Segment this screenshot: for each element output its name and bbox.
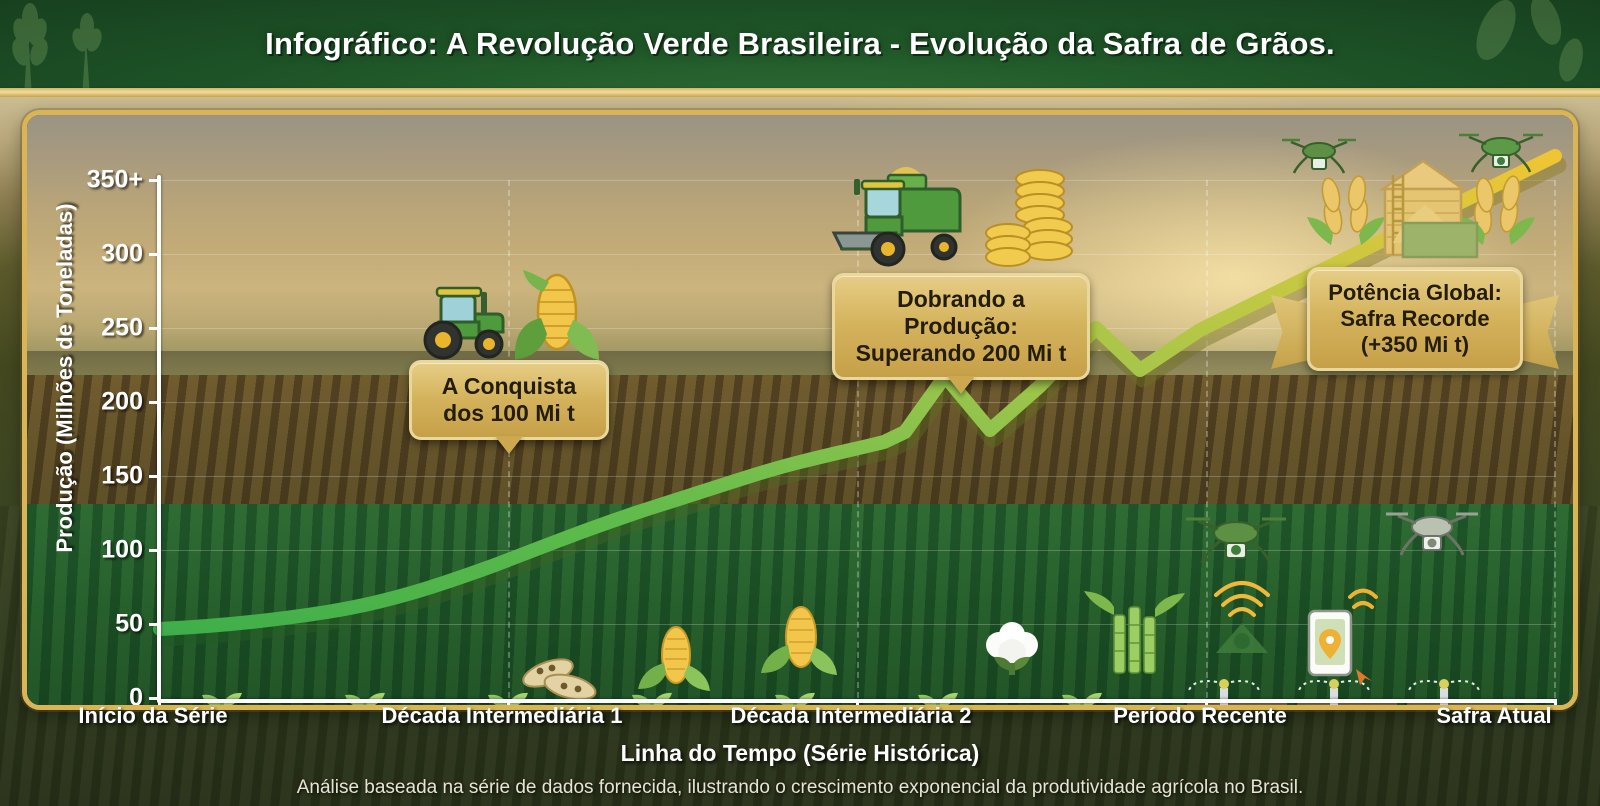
y-tick-300 bbox=[149, 253, 161, 256]
y-tick-200 bbox=[149, 401, 161, 404]
infographic-root: Infográfico: A Revolução Verde Brasileir… bbox=[0, 0, 1600, 806]
callout-350-bubble: Potência Global: Safra Recorde (+350 Mi … bbox=[1307, 267, 1523, 371]
y-tick-50 bbox=[149, 623, 161, 626]
callout-100-line2: dos 100 Mi t bbox=[430, 400, 588, 427]
y-axis-label-250: 250 bbox=[101, 314, 143, 343]
footnote-text: Análise baseada na série de dados fornec… bbox=[0, 777, 1600, 799]
combine-harvester-icon bbox=[832, 161, 982, 279]
callout-100-line1: A Conquista bbox=[430, 373, 588, 400]
x-axis-label-2: Década Intermediária 2 bbox=[731, 703, 972, 729]
callout-350-line1: Potência Global: bbox=[1328, 280, 1502, 306]
x-axis-label-3: Período Recente bbox=[1113, 703, 1287, 729]
callout-350[interactable]: Potência Global: Safra Recorde (+350 Mi … bbox=[1307, 267, 1523, 371]
y-axis-label-350: 350+ bbox=[87, 166, 143, 195]
callout-200-bubble: Dobrando a Produção: Superando 200 Mi t bbox=[832, 273, 1090, 380]
x-axis-label-1: Década Intermediária 1 bbox=[382, 703, 623, 729]
coin-stack-icon bbox=[982, 161, 1078, 279]
callout-200-line2: Superando 200 Mi t bbox=[853, 340, 1069, 367]
callout-350-line2: Safra Recorde bbox=[1328, 306, 1502, 332]
callout-100-bubble: A Conquista dos 100 Mi t bbox=[409, 360, 609, 440]
title-divider bbox=[0, 88, 1600, 97]
x-tick-4 bbox=[1554, 699, 1557, 710]
callout-200-line1: Dobrando a Produção: bbox=[853, 286, 1069, 340]
y-tick-100 bbox=[149, 549, 161, 552]
y-axis-label-300: 300 bbox=[101, 240, 143, 269]
page-title: Infográfico: A Revolução Verde Brasileir… bbox=[0, 0, 1600, 88]
x-axis-label-0: Início da Série bbox=[78, 703, 227, 729]
x-axis-title: Linha do Tempo (Série Histórica) bbox=[0, 740, 1600, 767]
title-band: Infográfico: A Revolução Verde Brasileir… bbox=[0, 0, 1600, 88]
corn-icon bbox=[513, 268, 595, 366]
y-axis-label-100: 100 bbox=[101, 536, 143, 565]
y-axis-title: Produção (Milhões de Toneladas) bbox=[52, 148, 78, 608]
x-axis-label-4: Safra Atual bbox=[1436, 703, 1551, 729]
callout-200[interactable]: Dobrando a Produção: Superando 200 Mi t bbox=[832, 273, 1090, 380]
callout-350-line3: (+350 Mi t) bbox=[1328, 332, 1502, 358]
y-tick-150 bbox=[149, 475, 161, 478]
chart-panel: 350+ 300 250 200 150 100 50 0 Produção (… bbox=[22, 110, 1578, 710]
y-tick-350 bbox=[149, 179, 161, 182]
y-axis-label-200: 200 bbox=[101, 388, 143, 417]
y-axis-label-150: 150 bbox=[101, 462, 143, 491]
y-tick-250 bbox=[149, 327, 161, 330]
y-axis-label-50: 50 bbox=[115, 610, 143, 639]
callout-100[interactable]: A Conquista dos 100 Mi t bbox=[409, 360, 609, 440]
tractor-icon bbox=[413, 274, 513, 366]
grain-silo-icon bbox=[1297, 145, 1547, 275]
